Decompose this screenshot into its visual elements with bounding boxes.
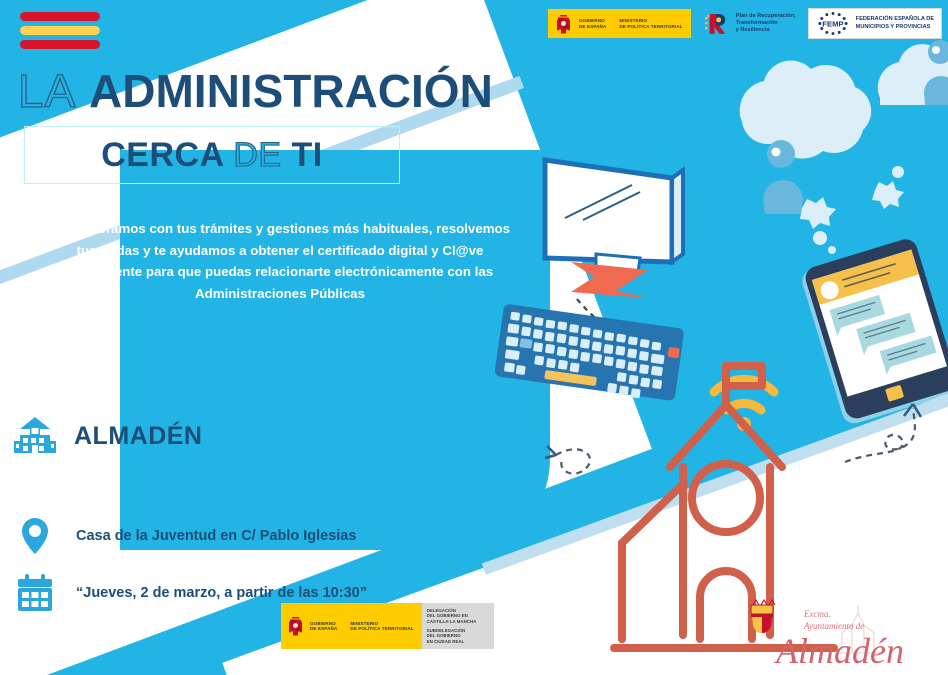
prtr-line3: y Resiliencia [736,27,796,34]
logo-plan-recuperacion: Plan de Recuperación, Transformación y R… [703,11,796,37]
logo-ayuntamiento-almaden: Excma. Ayuntamiento de Almadén [734,591,934,669]
town-row: ALMADÉN [12,413,203,459]
logo-delegacion-gobierno: GOBIERNO DE ESPAÑA MINISTERIO DE POLÍTIC… [281,603,494,649]
femp-line2: MUNICIPIOS Y PROVINCIAS [856,24,934,31]
gob-line2b: DE POLÍTICA TERRITORIAL [619,24,682,29]
ayto-name: Almadén [774,631,904,669]
logo-gobierno-de-espana: GOBIERNO DE ESPAÑA MINISTERIO DE POLÍTIC… [548,9,691,38]
address-row: Casa de la Juventud en C/ Pablo Iglesias [12,513,356,559]
prtr-line2: Transformación [736,20,796,27]
femp-line1: FEDERACIÓN ESPAÑOLA DE [856,16,934,23]
subtitle-box: CERCA DE TI [24,126,400,184]
deleg-b1-l3: CASTILLA-LA MANCHA [427,619,489,624]
femp-stars-icon: FEMP [816,11,850,36]
delegacion-yellow-block: GOBIERNO DE ESPAÑA MINISTERIO DE POLÍTIC… [281,603,422,649]
logo-femp: FEMP FEDERACIÓN ESPAÑOLA DE MUNICIPIOS Y… [808,8,942,39]
headline-la: LA [18,65,76,117]
deleg-b2-l3: EN CIUDAD REAL [427,639,489,644]
delegacion-block-1: DELEGACIÓN DEL GOBIERNO EN CASTILLA-LA M… [427,608,489,624]
address-text: Casa de la Juventud en C/ Pablo Iglesias [76,528,356,544]
deleg-gob-line1b: DE ESPAÑA [310,626,337,631]
top-logo-strip: GOBIERNO DE ESPAÑA MINISTERIO DE POLÍTIC… [548,8,942,39]
lead-paragraph: Te asesoramos con tus trámites y gestion… [40,218,520,304]
almaden-coat-of-arms-icon [751,600,775,633]
page-title: LA ADMINISTRACIÓN [18,68,493,114]
flag-bar-red-top [20,12,100,21]
town-name: ALMADÉN [74,422,203,451]
gob-line1b: DE ESPAÑA [579,24,606,29]
subtitle-ti: TI [292,136,323,174]
background-cyan-rounded-panel [120,150,550,550]
delegacion-grey-block: DELEGACIÓN DEL GOBIERNO EN CASTILLA-LA M… [422,603,494,649]
date-text: “Jueves, 2 de marzo, a partir de las 10:… [76,585,367,601]
spain-flag-icon [20,12,100,54]
poster-canvas: GOBIERNO DE ESPAÑA MINISTERIO DE POLÍTIC… [0,0,948,675]
calendar-icon [12,570,58,616]
flag-bar-yellow [20,26,100,35]
map-pin-icon [12,513,58,559]
subtitle-de: DE [233,136,291,174]
delegacion-block-2: SUBDELEGACIÓN DEL GOBIERNO EN CIUDAD REA… [427,628,489,644]
femp-mark-label: FEMP [822,20,843,29]
prtr-line1: Plan de Recuperación, [736,13,796,20]
gob-line1a: GOBIERNO [579,18,606,23]
prtr-mark-icon [703,11,731,37]
ayto-line2: Ayuntamiento de [803,621,864,631]
school-building-icon [12,413,58,459]
headline-administracion: ADMINISTRACIÓN [89,65,493,117]
spain-coat-of-arms-icon-bottom [287,615,304,637]
deleg-gob-line2b: DE POLÍTICA TERRITORIAL [350,626,413,631]
flag-bar-red-bottom [20,40,100,49]
subtitle-cerca: CERCA [101,136,233,174]
ayto-line1: Excma. [803,609,831,619]
spain-coat-of-arms-icon [555,13,572,35]
